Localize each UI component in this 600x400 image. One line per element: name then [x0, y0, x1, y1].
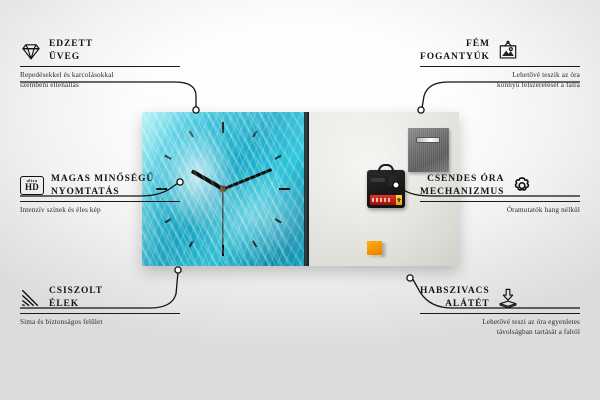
- feature-title-line2: ÉLEK: [49, 298, 103, 311]
- feature-header: ultra HD MAGAS MINŐSÉGŰ NYOMTATÁS: [20, 173, 180, 198]
- infographic-stage: EDZETT ÜVEG Repedésekkel és karcolásokka…: [0, 0, 600, 400]
- hanger-grain: [408, 128, 449, 172]
- feature-title-line1: FÉM: [420, 38, 490, 51]
- battery: [370, 195, 402, 205]
- feature-divider: [420, 313, 580, 314]
- gear-icon: [511, 175, 533, 197]
- clock-tick: [223, 188, 290, 190]
- ultra-hd-large-text: HD: [25, 183, 39, 192]
- feature-divider: [420, 66, 580, 67]
- clock-mechanism: [367, 170, 405, 208]
- connector-dot-csiszolt: [175, 267, 181, 273]
- feature-description-line1: Lehetővé teszik az óra: [420, 71, 580, 81]
- feature-csiszolt-elek[interactable]: CSISZOLT ÉLEK Sima és biztonságos felüle…: [20, 285, 180, 328]
- metal-hanger-plate: [408, 128, 449, 172]
- feature-title-line2: FOGANTYÚK: [420, 51, 490, 64]
- feature-description-line2: szembeni ellenállás: [20, 81, 180, 91]
- ultra-hd-icon: ultra HD: [20, 176, 44, 195]
- connector-dot-habszivacs: [407, 275, 413, 281]
- feature-description-line2: távolságban tartását a faltól: [420, 328, 580, 338]
- feature-title-line2: ÜVEG: [49, 51, 93, 64]
- picture-hanger-icon: [497, 40, 519, 62]
- feature-title-line2: MECHANIZMUS: [420, 186, 504, 199]
- battery-positive-terminal: [396, 195, 402, 205]
- clock-tick: [189, 130, 224, 189]
- feature-title-line1: EDZETT: [49, 38, 93, 51]
- feature-divider: [20, 313, 180, 314]
- polished-edges-icon: [20, 287, 42, 309]
- clock-tick: [222, 122, 224, 189]
- feature-title: CSENDES ÓRA MECHANIZMUS: [420, 173, 504, 198]
- feature-csendes-ora-mechanizmus[interactable]: CSENDES ÓRA MECHANIZMUS Óramutatók hang …: [420, 173, 580, 216]
- clock-second-hand: [222, 189, 223, 245]
- feature-divider: [20, 201, 180, 202]
- feature-divider: [20, 66, 180, 67]
- feature-description: Lehetővé teszik az óra könnyű felszerelé…: [420, 71, 580, 90]
- feature-title-line2: ALÁTÉT: [420, 298, 490, 311]
- feature-header: CSISZOLT ÉLEK: [20, 285, 180, 310]
- mechanism-slot: [371, 178, 385, 182]
- foam-pad-icon: [497, 287, 519, 309]
- clock-tick: [222, 189, 257, 248]
- feature-header: EDZETT ÜVEG: [20, 38, 180, 63]
- foam-pad: [367, 241, 382, 255]
- feature-description: Intenzív színek és éles kép: [20, 206, 180, 216]
- feature-description-line1: Lehetővé teszi az óra egyenletes: [420, 318, 580, 328]
- feature-description: Óramutatók hang nélkül: [420, 206, 580, 216]
- feature-header: CSENDES ÓRA MECHANIZMUS: [420, 173, 580, 198]
- feature-title: CSISZOLT ÉLEK: [49, 285, 103, 310]
- feature-description-line1: Óramutatók hang nélkül: [420, 206, 580, 216]
- clock-tick: [222, 130, 257, 189]
- clock-tick: [223, 155, 282, 190]
- feature-title: HABSZIVACS ALÁTÉT: [420, 285, 490, 310]
- feature-description: Lehetővé teszi az óra egyenletes távolsá…: [420, 318, 580, 337]
- clock-minute-hand: [222, 168, 271, 190]
- mechanism-hook: [378, 164, 394, 173]
- feature-title-line2: NYOMTATÁS: [51, 186, 154, 199]
- feature-description: Repedésekkel és karcolásokkal szembeni e…: [20, 71, 180, 90]
- feature-title: EDZETT ÜVEG: [49, 38, 93, 63]
- hanger-slot: [416, 137, 440, 143]
- feature-description-line1: Sima és biztonságos felület: [20, 318, 180, 328]
- clock-tick: [223, 188, 282, 223]
- feature-description-line1: Intenzív színek és éles kép: [20, 206, 180, 216]
- product-image: [142, 112, 459, 266]
- feature-title-line1: CSISZOLT: [49, 285, 103, 298]
- feature-description-line2: könnyű felszerelését a falra: [420, 81, 580, 91]
- feature-title: MAGAS MINŐSÉGŰ NYOMTATÁS: [51, 173, 154, 198]
- clock-center-cap: [220, 186, 226, 192]
- feature-header: FÉM FOGANTYÚK: [420, 38, 580, 63]
- diamond-icon: [20, 40, 42, 62]
- feature-title-line1: CSENDES ÓRA: [420, 173, 504, 186]
- mechanism-button: [388, 176, 397, 186]
- feature-divider: [420, 201, 580, 202]
- feature-description: Sima és biztonságos felület: [20, 318, 180, 328]
- feature-fem-fogantyuk[interactable]: FÉM FOGANTYÚK Lehetővé teszik az óra kön…: [420, 38, 580, 90]
- clock-tick: [222, 189, 224, 256]
- feature-edzett-uveg[interactable]: EDZETT ÜVEG Repedésekkel és karcolásokka…: [20, 38, 180, 90]
- feature-title-line1: HABSZIVACS: [420, 285, 490, 298]
- feature-title: FÉM FOGANTYÚK: [420, 38, 490, 63]
- feature-description-line1: Repedésekkel és karcolásokkal: [20, 71, 180, 81]
- battery-label: [372, 198, 392, 202]
- feature-habszivacs-alatet[interactable]: HABSZIVACS ALÁTÉT Lehetővé teszi az óra …: [420, 285, 580, 337]
- feature-title-line1: MAGAS MINŐSÉGŰ: [51, 173, 154, 186]
- clock-hour-hand: [191, 169, 224, 190]
- feature-header: HABSZIVACS ALÁTÉT: [420, 285, 580, 310]
- clock-tick: [189, 189, 224, 248]
- feature-magas-minosegu-nyomtatas[interactable]: ultra HD MAGAS MINŐSÉGŰ NYOMTATÁS Intenz…: [20, 173, 180, 216]
